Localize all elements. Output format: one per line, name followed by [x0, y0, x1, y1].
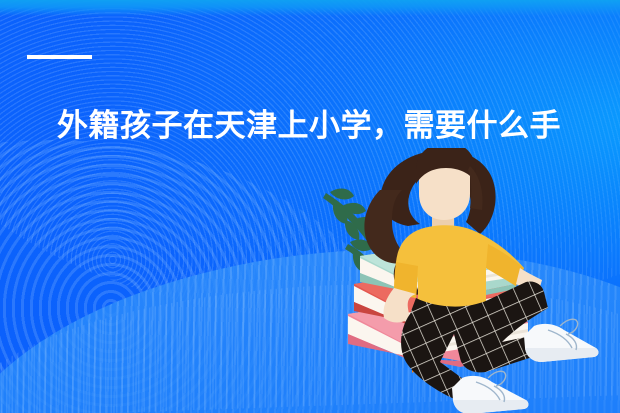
hero-illustration: [320, 148, 620, 413]
title-accent-rule: [27, 55, 92, 59]
background-top-glow: [0, 0, 620, 16]
page-title: 外籍孩子在天津上小学，需要什么手: [57, 104, 597, 148]
woman-on-books-illustration: [320, 148, 620, 413]
woman-shoe-lower: [452, 371, 528, 413]
woman-shoe-upper: [524, 319, 598, 362]
article-banner: 外籍孩子在天津上小学，需要什么手: [0, 0, 620, 413]
